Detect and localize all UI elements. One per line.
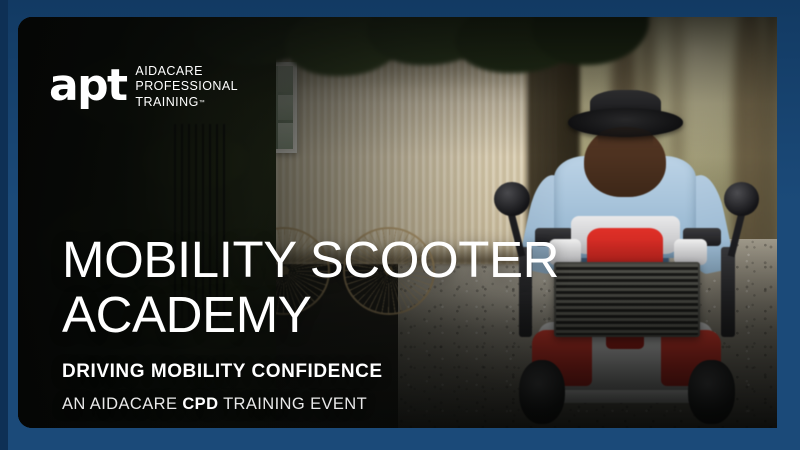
banner-content: apt AIDACARE PROFESSIONAL TRAINING™ MOBI… <box>18 17 777 428</box>
navy-frame-left-edge <box>0 0 8 450</box>
apt-logo-mark: apt <box>49 69 126 103</box>
logo-training-text: TRAINING <box>135 95 198 109</box>
page-title: MOBILITY SCOOTER ACADEMY <box>62 233 559 342</box>
event-suffix: TRAINING EVENT <box>218 395 367 413</box>
photo-stage: apt AIDACARE PROFESSIONAL TRAINING™ MOBI… <box>18 17 777 428</box>
event-cpd-emphasis: CPD <box>182 395 218 413</box>
event-prefix: AN AIDACARE <box>62 395 182 413</box>
logo-line-professional: PROFESSIONAL <box>135 79 238 94</box>
promotional-banner: apt AIDACARE PROFESSIONAL TRAINING™ MOBI… <box>0 0 800 450</box>
trademark-symbol: ™ <box>199 100 205 106</box>
apt-logo[interactable]: apt AIDACARE PROFESSIONAL TRAINING™ <box>49 63 238 110</box>
event-descriptor: AN AIDACARE CPD TRAINING EVENT <box>62 395 367 414</box>
logo-line-aidacare: AIDACARE <box>135 64 238 79</box>
apt-logo-wordmark: AIDACARE PROFESSIONAL TRAINING™ <box>135 63 238 110</box>
subtitle: DRIVING MOBILITY CONFIDENCE <box>62 361 383 383</box>
logo-line-training: TRAINING™ <box>135 95 238 110</box>
